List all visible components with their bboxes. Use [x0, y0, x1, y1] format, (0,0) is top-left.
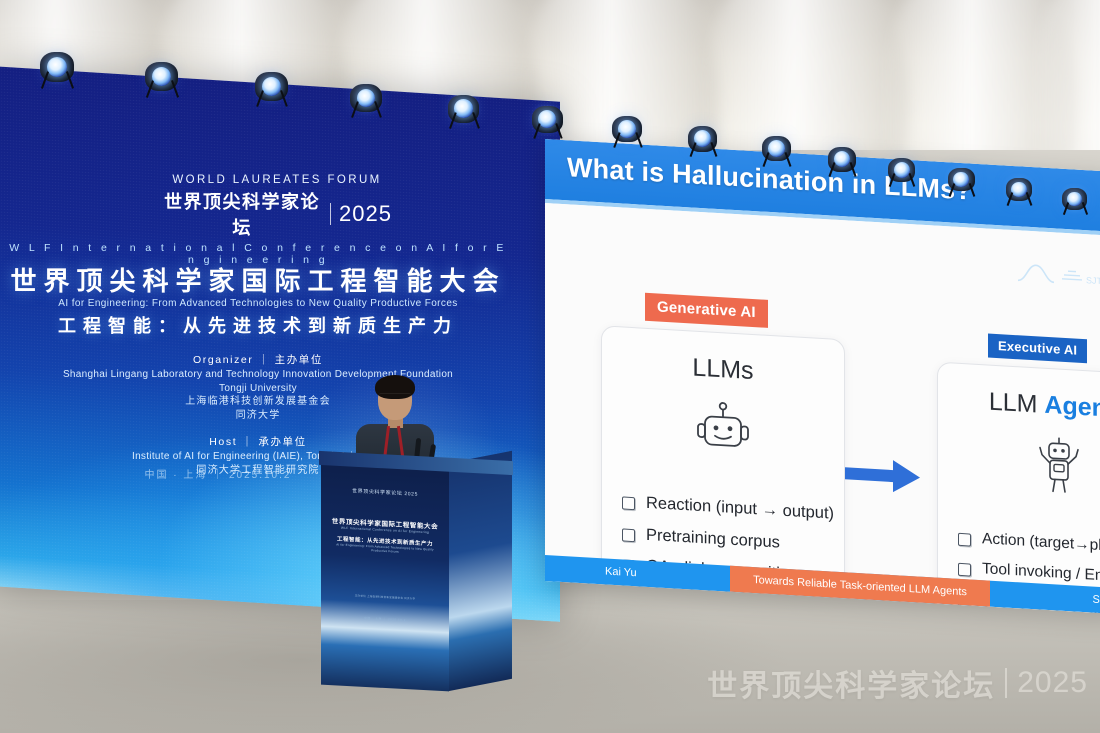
- stage-light-14: [1062, 188, 1087, 226]
- bullet-item: Action (target→plan→a: [958, 528, 1100, 560]
- podium: 世界顶尖科学家论坛 2025 世界顶尖科学家国际工程智能大会 WLF Inter…: [321, 463, 511, 688]
- forum-logo-year: 2025: [339, 201, 392, 227]
- bullet-text: Reaction (input → output): [646, 493, 834, 524]
- stage-light-2: [145, 62, 178, 113]
- stage-photo: WORLD LAUREATES FORUM 世界顶尖科学家论坛 2025 W L…: [0, 0, 1100, 733]
- par-lens: [1011, 182, 1026, 197]
- badge-executive-ai: Executive AI: [988, 334, 1087, 364]
- par-lens: [47, 57, 67, 77]
- stage-light-10: [828, 147, 856, 190]
- stage-light-6: [532, 106, 563, 153]
- checkbox-icon: [958, 533, 971, 547]
- stage-light-7: [612, 116, 642, 162]
- agents-heading-plain: LLM: [989, 388, 1045, 419]
- footer-speaker-name: Kai Yu: [545, 562, 730, 585]
- podium-side-panel: [448, 451, 512, 691]
- par-lens: [618, 120, 636, 138]
- right-arrow-icon: [845, 456, 921, 494]
- conference-cn-subtitle: 工程智能：从先进技术到新质生产力: [8, 312, 508, 338]
- podium-graphic-text: 世界顶尖科学家论坛 2025 世界顶尖科学家国际工程智能大会 WLF Inter…: [329, 486, 441, 624]
- conference-title-block: W L F I n t e r n a t i o n a l C o n f …: [8, 242, 508, 338]
- slide-body: SJT Generative AI Executive AI LLMs: [545, 203, 1100, 588]
- logo-divider: [330, 203, 331, 225]
- watermark-chinese: 世界顶尖科学家论坛: [707, 661, 995, 705]
- card-agents-heading: LLM Agents: [938, 385, 1100, 428]
- footer-affiliation: SJT: [990, 588, 1100, 607]
- par-lens: [454, 99, 472, 117]
- card-llms-heading: LLMs: [602, 348, 844, 391]
- watermark-divider: [1005, 668, 1007, 698]
- checkbox-icon: [622, 528, 635, 542]
- conference-en-subtitle: AI for Engineering: From Advanced Techno…: [8, 298, 508, 309]
- robot-full-body-icon: [1028, 434, 1090, 500]
- card-llms: LLMs Reaction (input: [601, 325, 845, 597]
- bullet-text: Pretraining corpus: [646, 524, 780, 552]
- par-lens: [262, 77, 281, 96]
- stage-light-12: [948, 168, 975, 209]
- podium-organizer: 主办单位 上海临港科技创新发展基金会 同济大学: [329, 592, 441, 602]
- bullet-text: Action (target→plan→a: [982, 529, 1100, 558]
- checkbox-icon: [958, 563, 971, 577]
- forum-logo-english: WORLD LAUREATES FORUM: [162, 174, 392, 186]
- conference-en-small: W L F I n t e r n a t i o n a l C o n f …: [8, 242, 508, 266]
- agents-heading-accent: Agents: [1044, 391, 1100, 424]
- par-lens: [894, 162, 910, 178]
- sjtu-logo-mark: SJT: [1016, 254, 1100, 290]
- stage-light-9: [762, 136, 791, 180]
- stage-light-13: [1006, 178, 1032, 218]
- card-llm-agents: LLM Agents: [937, 362, 1100, 615]
- checkbox-icon: [622, 496, 635, 510]
- stage-light-8: [688, 126, 717, 171]
- par-lens: [768, 140, 785, 157]
- eyeglasses-icon: [379, 393, 411, 401]
- stage-light-11: [888, 158, 915, 200]
- watermark-year: 2025: [1017, 666, 1088, 700]
- stage-light-1: [40, 52, 74, 104]
- badge-generative-ai: Generative AI: [645, 293, 768, 328]
- stage-light-4: [350, 84, 382, 133]
- svg-text:SJT: SJT: [1086, 275, 1100, 286]
- conference-cn-title: 世界顶尖科学家国际工程智能大会: [8, 266, 508, 297]
- stage-light-5: [448, 95, 479, 143]
- watermark: 世界顶尖科学家论坛 2025: [707, 661, 1088, 705]
- bullet-item: Pretraining corpus: [622, 523, 836, 556]
- bullet-item: Reaction (input → output): [622, 491, 836, 524]
- forum-logo: WORLD LAUREATES FORUM 世界顶尖科学家论坛 2025: [162, 174, 392, 240]
- par-lens: [1067, 192, 1082, 207]
- forum-logo-chinese: 世界顶尖科学家论坛: [162, 188, 322, 240]
- robot-head-icon: [692, 397, 754, 463]
- stage-light-3: [255, 72, 288, 122]
